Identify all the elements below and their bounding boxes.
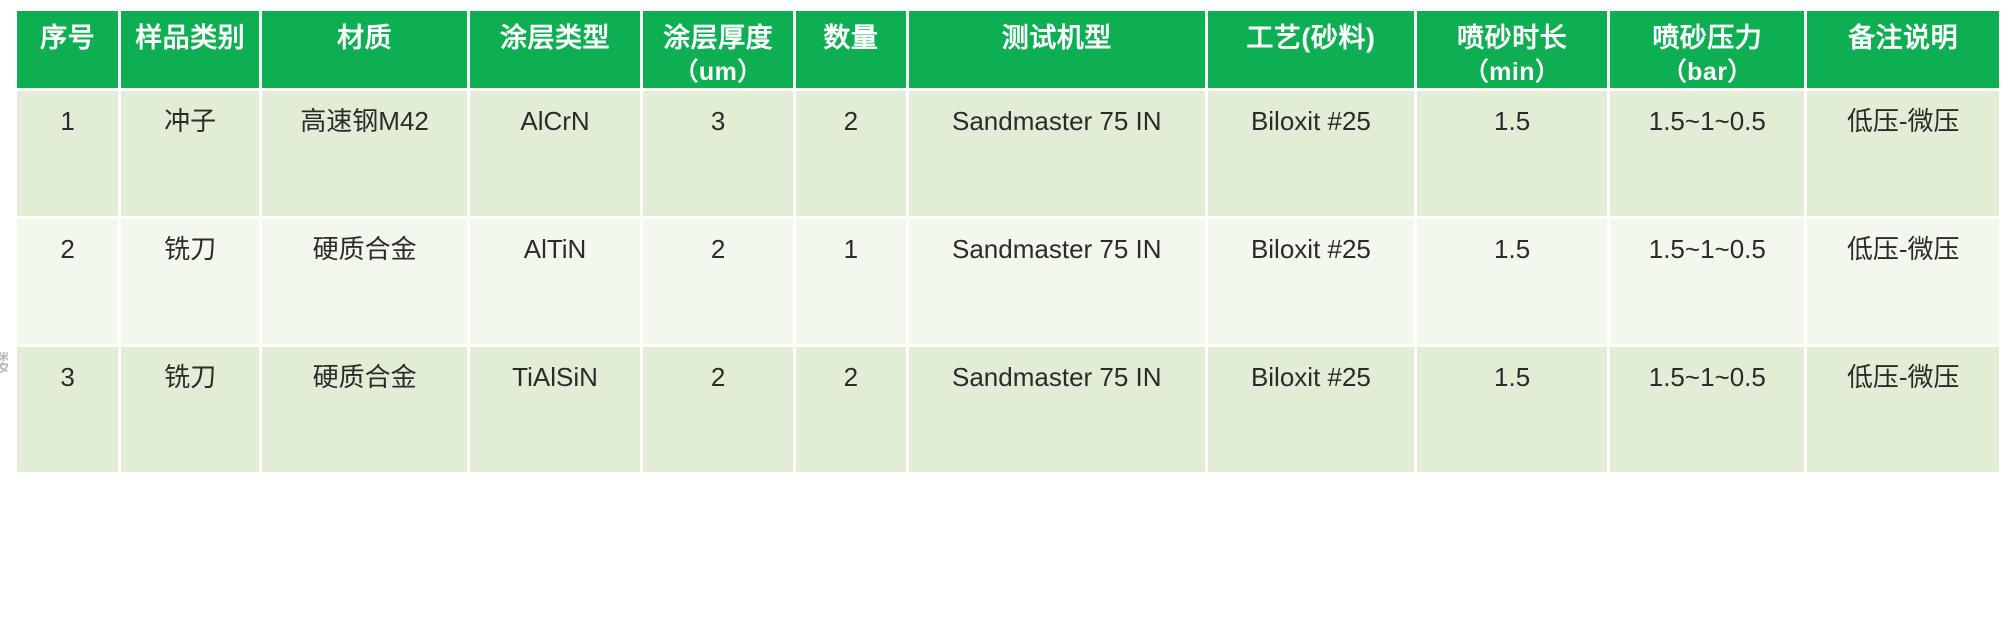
cell-test-machine: Sandmaster 75 IN xyxy=(909,91,1205,216)
column-header-process-media-label: 工艺(砂料) xyxy=(1246,23,1375,53)
cell-test-machine: Sandmaster 75 IN xyxy=(909,219,1205,344)
cell-sample-type: 铣刀 xyxy=(121,347,259,472)
column-header-coating-thickness-unit: （um） xyxy=(647,56,789,88)
cell-coating-type: TiAlSiN xyxy=(470,347,640,472)
column-header-test-machine-label: 测试机型 xyxy=(1002,23,1112,53)
cell-quantity: 2 xyxy=(796,347,906,472)
sample-blasting-spec-table: 序号 样品类别 材质 涂层类型 涂层厚度 （um） 数量 xyxy=(14,8,2002,475)
header-row: 序号 样品类别 材质 涂层类型 涂层厚度 （um） 数量 xyxy=(17,11,1999,88)
column-header-no-label: 序号 xyxy=(40,23,95,53)
column-header-test-machine: 测试机型 xyxy=(909,11,1205,88)
column-header-blast-time: 喷砂时长 （min） xyxy=(1417,11,1607,88)
column-header-coating-type-label: 涂层类型 xyxy=(500,23,610,53)
column-header-blast-pressure-unit: （bar） xyxy=(1614,56,1800,88)
cell-quantity: 2 xyxy=(796,91,906,216)
column-header-no: 序号 xyxy=(17,11,118,88)
column-header-sample-type: 样品类别 xyxy=(121,11,259,88)
column-header-coating-thickness-label: 涂层厚度 xyxy=(663,23,773,53)
column-header-quantity-label: 数量 xyxy=(823,23,878,53)
cell-blast-pressure: 1.5~1~0.5 xyxy=(1610,219,1804,344)
cell-coating-thickness: 2 xyxy=(643,347,793,472)
cell-quantity: 1 xyxy=(796,219,906,344)
cell-sample-type: 冲子 xyxy=(121,91,259,216)
cell-blast-time: 1.5 xyxy=(1417,91,1607,216)
cell-test-machine: Sandmaster 75 IN xyxy=(909,347,1205,472)
column-header-blast-pressure: 喷砂压力 （bar） xyxy=(1610,11,1804,88)
column-header-coating-type: 涂层类型 xyxy=(470,11,640,88)
cell-blast-time: 1.5 xyxy=(1417,219,1607,344)
cell-blast-time: 1.5 xyxy=(1417,347,1607,472)
table-row: 1 冲子 高速钢M42 AlCrN 3 2 Sandmaster 75 IN B… xyxy=(17,91,1999,216)
column-header-process-media: 工艺(砂料) xyxy=(1208,11,1414,88)
column-header-blast-pressure-label: 喷砂压力 xyxy=(1652,23,1762,53)
cell-blast-pressure: 1.5~1~0.5 xyxy=(1610,347,1804,472)
cell-remark: 低压-微压 xyxy=(1807,219,1999,344)
cell-process-media: Biloxit #25 xyxy=(1208,219,1414,344)
column-header-coating-thickness: 涂层厚度 （um） xyxy=(643,11,793,88)
column-header-remark: 备注说明 xyxy=(1807,11,1999,88)
cell-material: 硬质合金 xyxy=(262,219,467,344)
column-header-material-label: 材质 xyxy=(337,23,392,53)
cell-remark: 低压-微压 xyxy=(1807,91,1999,216)
cell-no: 1 xyxy=(17,91,118,216)
cell-no: 3 xyxy=(17,347,118,472)
cell-blast-pressure: 1.5~1~0.5 xyxy=(1610,91,1804,216)
cell-material: 高速钢M42 xyxy=(262,91,467,216)
table-row: 2 铣刀 硬质合金 AlTiN 2 1 Sandmaster 75 IN Bil… xyxy=(17,219,1999,344)
table-body: 1 冲子 高速钢M42 AlCrN 3 2 Sandmaster 75 IN B… xyxy=(17,91,1999,472)
table-row: 3 铣刀 硬质合金 TiAlSiN 2 2 Sandmaster 75 IN B… xyxy=(17,347,1999,472)
cell-material: 硬质合金 xyxy=(262,347,467,472)
column-header-remark-label: 备注说明 xyxy=(1848,23,1958,53)
cell-coating-type: AlTiN xyxy=(470,219,640,344)
column-header-blast-time-unit: （min） xyxy=(1421,56,1603,88)
clipped-text-fragment: 数 xyxy=(0,352,8,398)
cell-sample-type: 铣刀 xyxy=(121,219,259,344)
cell-coating-thickness: 3 xyxy=(643,91,793,216)
cell-coating-type: AlCrN xyxy=(470,91,640,216)
table-header: 序号 样品类别 材质 涂层类型 涂层厚度 （um） 数量 xyxy=(17,11,1999,88)
column-header-sample-type-label: 样品类别 xyxy=(135,23,245,53)
spec-table-page: 数 序号 样品类别 材质 涂层类型 涂层厚度 xyxy=(0,0,2015,637)
cell-process-media: Biloxit #25 xyxy=(1208,91,1414,216)
column-header-material: 材质 xyxy=(262,11,467,88)
cell-remark: 低压-微压 xyxy=(1807,347,1999,472)
column-header-blast-time-label: 喷砂时长 xyxy=(1457,23,1567,53)
cell-no: 2 xyxy=(17,219,118,344)
column-header-quantity: 数量 xyxy=(796,11,906,88)
cell-process-media: Biloxit #25 xyxy=(1208,347,1414,472)
cell-coating-thickness: 2 xyxy=(643,219,793,344)
